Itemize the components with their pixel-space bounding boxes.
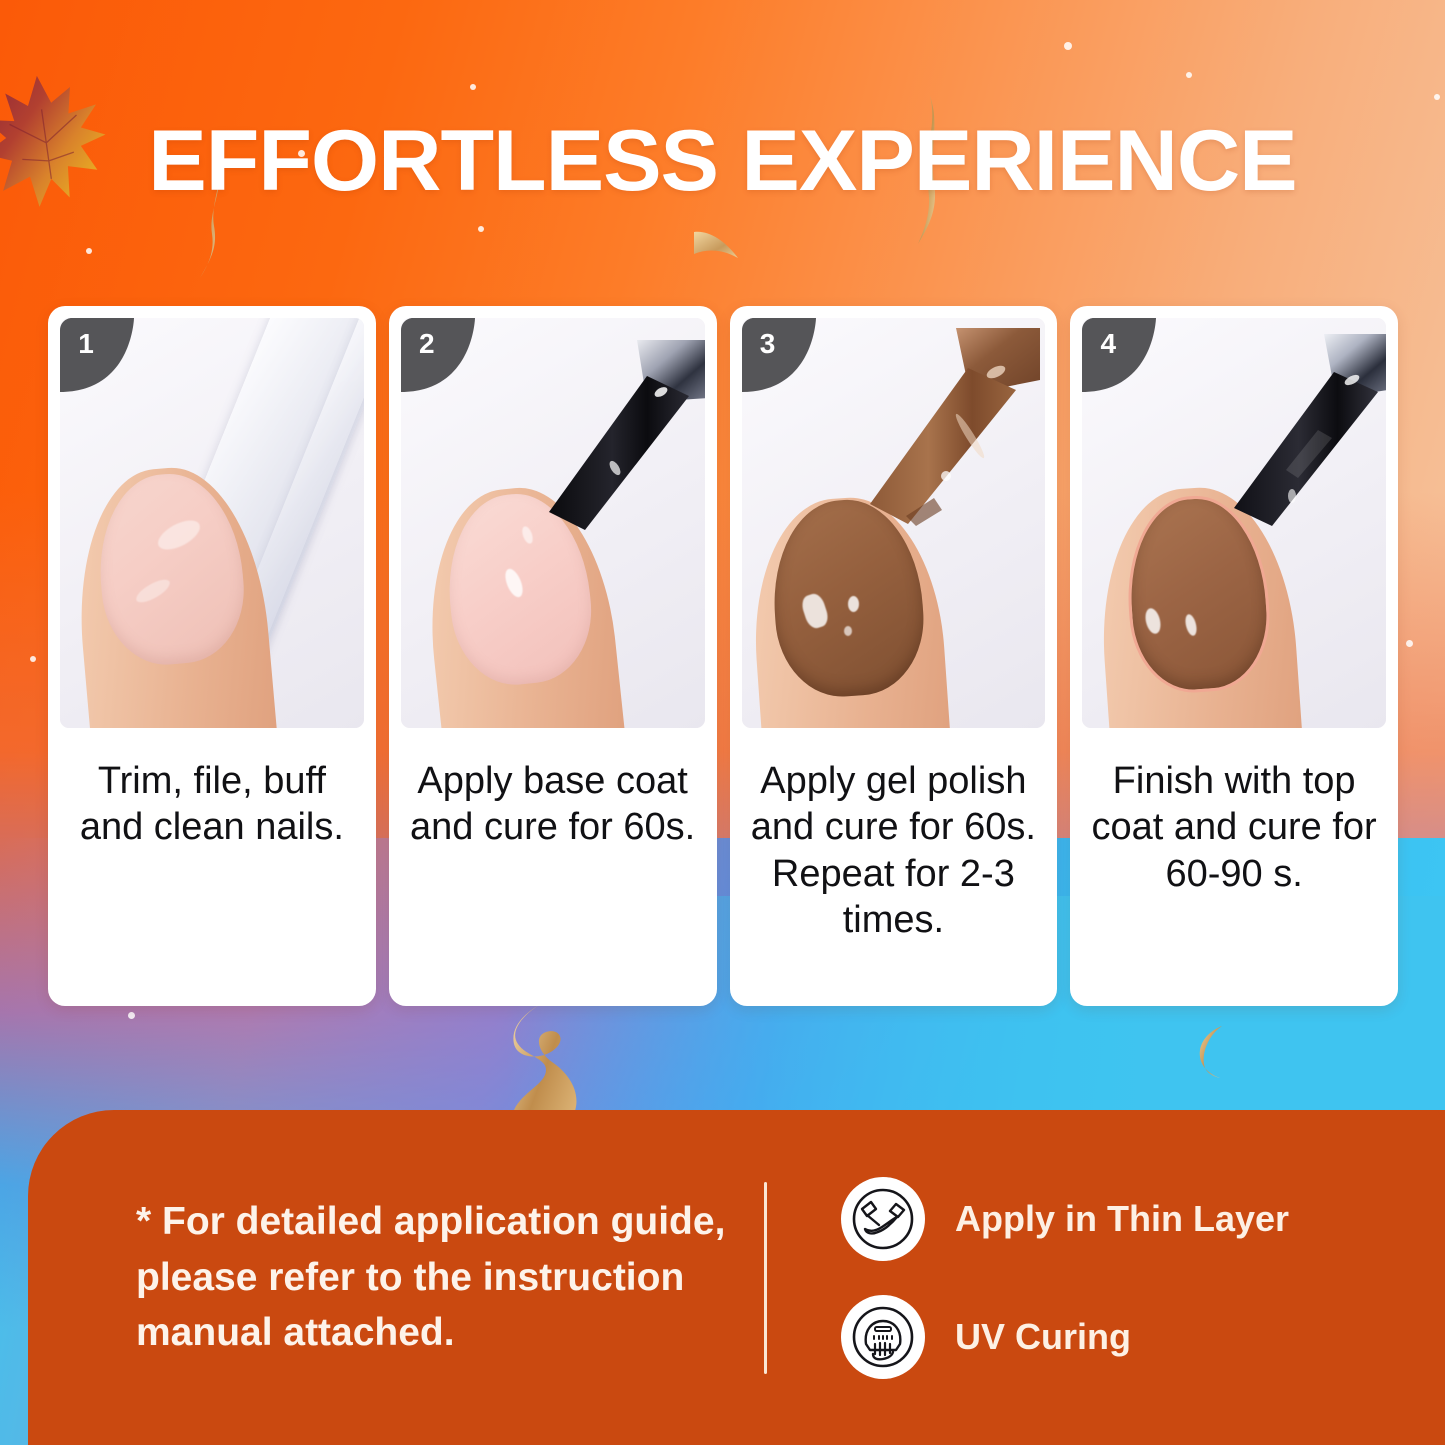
step-number-3: 3 — [742, 318, 794, 370]
step-card-3[interactable]: 3 Apply gel polish and cure for 60s. Rep… — [730, 306, 1058, 1006]
sparkle-dot — [1406, 640, 1413, 647]
step-badge-1: 1 — [60, 318, 134, 392]
bottom-info-panel: * For detailed application guide, please… — [28, 1110, 1445, 1445]
sparkle-dot — [86, 248, 92, 254]
instruction-manual-note: * For detailed application guide, please… — [28, 1194, 764, 1360]
step-badge-2: 2 — [401, 318, 475, 392]
step-caption-1: Trim, file, buff and clean nails. — [60, 728, 364, 1006]
step-caption-3: Apply gel polish and cure for 60s. Repea… — [742, 728, 1046, 1006]
step-caption-2: Apply base coat and cure for 60s. — [401, 728, 705, 1006]
thin-layer-brush-icon — [841, 1177, 925, 1261]
step-card-1[interactable]: 1 Trim, file, buff and clean nails. — [48, 306, 376, 1006]
feature-thin-layer: Apply in Thin Layer — [841, 1177, 1289, 1261]
sparkle-dot — [30, 656, 36, 662]
sparkle-dot — [1186, 72, 1192, 78]
step-photo-2: 2 — [401, 318, 705, 728]
sparkle-dot — [1434, 94, 1440, 100]
feature-label-uv-curing: UV Curing — [955, 1316, 1131, 1358]
step-number-2: 2 — [401, 318, 453, 370]
sparkle-dot — [1064, 42, 1072, 50]
feature-list: Apply in Thin Layer UV Curing — [841, 1177, 1289, 1379]
step-number-1: 1 — [60, 318, 112, 370]
sparkle-dot — [478, 226, 484, 232]
page-title: EFFORTLESS EXPERIENCE — [0, 118, 1445, 204]
step-number-4: 4 — [1082, 318, 1134, 370]
step-card-2[interactable]: 2 Apply base coat and cure for 60s. — [389, 306, 717, 1006]
step-photo-4: 4 — [1082, 318, 1386, 728]
sparkle-dot — [128, 1012, 135, 1019]
feature-label-thin-layer: Apply in Thin Layer — [955, 1198, 1289, 1240]
sparkle-dot — [470, 84, 476, 90]
step-badge-4: 4 — [1082, 318, 1156, 392]
step-caption-4: Finish with top coat and cure for 60-90 … — [1082, 728, 1386, 1006]
steps-card-row: 1 Trim, file, buff and clean nails. — [48, 306, 1398, 1006]
step-photo-1: 1 — [60, 318, 364, 728]
uv-lamp-icon — [841, 1295, 925, 1379]
step-photo-3: 3 — [742, 318, 1046, 728]
step-card-4[interactable]: 4 Finish with top coat and cure for 60-9… — [1070, 306, 1398, 1006]
step-badge-3: 3 — [742, 318, 816, 392]
vertical-divider — [764, 1182, 767, 1374]
feature-uv-curing: UV Curing — [841, 1295, 1289, 1379]
